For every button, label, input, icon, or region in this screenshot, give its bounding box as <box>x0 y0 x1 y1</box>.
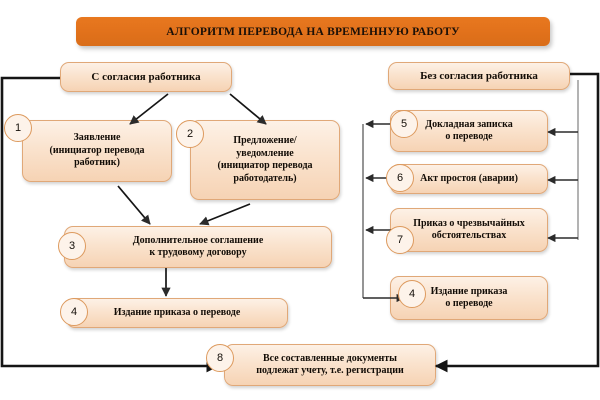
connector-layer <box>0 0 600 400</box>
node-badge-4-left-number: 4 <box>71 306 77 318</box>
node-application-label: Заявление(инициатор переводаработник) <box>43 132 150 170</box>
node-badge-8: 8 <box>206 344 234 372</box>
node-issue-order-right-label: Издание приказао переводе <box>425 286 514 311</box>
node-badge-2: 2 <box>176 120 204 148</box>
node-supplementary-agreement-label: Дополнительное соглашениек трудовому дог… <box>127 235 270 260</box>
node-badge-3: 3 <box>58 232 86 260</box>
node-badge-4-left: 4 <box>60 298 88 326</box>
node-badge-1-number: 1 <box>15 122 21 134</box>
branch-header-with-consent: С согласия работника <box>60 62 232 92</box>
node-badge-6: 6 <box>386 164 414 192</box>
node-offer-notification: Предложение/уведомление(инициатор перево… <box>190 120 340 200</box>
node-supplementary-agreement: Дополнительное соглашениек трудовому дог… <box>64 226 332 268</box>
node-application: Заявление(инициатор переводаработник) <box>22 120 172 182</box>
node-badge-5: 5 <box>390 110 418 138</box>
node-badge-4-right: 4 <box>398 280 426 308</box>
node-memo-report-label: Докладная запискао переводе <box>419 119 518 144</box>
node-badge-7-number: 7 <box>397 234 403 246</box>
node-badge-6-number: 6 <box>397 172 403 184</box>
node-badge-3-number: 3 <box>69 240 75 252</box>
branch-header-without-consent: Без согласия работника <box>388 62 570 90</box>
node-badge-4-right-number: 4 <box>409 288 415 300</box>
node-emergency-order-label: Приказ о чрезвычайныхобстоятельствах <box>407 218 531 243</box>
diagram-title-banner: АЛГОРИТМ ПЕРЕВОДА НА ВРЕМЕННУЮ РАБОТУ <box>76 17 550 46</box>
node-offer-notification-label: Предложение/уведомление(инициатор перево… <box>211 135 318 185</box>
branch-header-without-consent-label: Без согласия работника <box>414 70 544 83</box>
node-badge-5-number: 5 <box>401 118 407 130</box>
branch-header-with-consent-label: С согласия работника <box>85 71 206 84</box>
node-badge-1: 1 <box>4 114 32 142</box>
node-issue-order-left: Издание приказа о переводе <box>66 298 288 328</box>
node-emergency-order: Приказ о чрезвычайныхобстоятельствах <box>390 208 548 252</box>
diagram-canvas: АЛГОРИТМ ПЕРЕВОДА НА ВРЕМЕННУЮ РАБОТУ С … <box>0 0 600 400</box>
node-badge-2-number: 2 <box>187 128 193 140</box>
node-issue-order-left-label: Издание приказа о переводе <box>108 307 247 320</box>
node-badge-7: 7 <box>386 226 414 254</box>
node-register-documents-label: Все составленные документыподлежат учету… <box>250 353 410 378</box>
node-downtime-act-label: Акт простоя (аварии) <box>414 173 524 186</box>
node-badge-8-number: 8 <box>217 352 223 364</box>
page-title: АЛГОРИТМ ПЕРЕВОДА НА ВРЕМЕННУЮ РАБОТУ <box>166 26 460 38</box>
node-register-documents: Все составленные документыподлежат учету… <box>224 344 436 386</box>
